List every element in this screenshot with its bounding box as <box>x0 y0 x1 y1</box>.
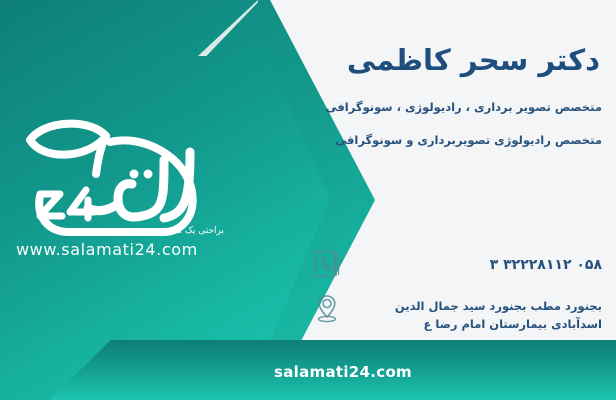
address-row[interactable]: بجنورد مطب بجنورد سید جمال الدین اسدآباد… <box>312 292 602 334</box>
map-pin-icon <box>312 292 342 324</box>
business-card: براحتی یک لبخند www.salamati24.com دکتر … <box>0 0 616 400</box>
brand-url: www.salamati24.com <box>16 240 198 259</box>
brand-logo: براحتی یک لبخند www.salamati24.com <box>14 112 234 272</box>
specialty-line-1: متخصص تصویر برداری ، رادیولوژی ، سونوگرا… <box>314 99 602 116</box>
footer-bar: salamati24.com <box>0 340 616 400</box>
footer-site[interactable]: salamati24.com <box>0 363 616 381</box>
specialty-line-2: متخصص رادیولوژی تصویربرداری و سونوگرافی <box>314 131 602 151</box>
doctor-name: دکتر سحر کاظمی <box>320 42 600 78</box>
apple-leaf-icon <box>14 112 234 238</box>
phonebook-icon <box>312 248 342 280</box>
brand-tagline: براحتی یک لبخند <box>163 226 224 236</box>
phone-number[interactable]: ۰۵۸ ۳۲۲۲۸۱۱۲ ۳ <box>352 248 602 277</box>
phone-row[interactable]: ۰۵۸ ۳۲۲۲۸۱۱۲ ۳ <box>312 248 602 280</box>
address-text[interactable]: بجنورد مطب بجنورد سید جمال الدین اسدآباد… <box>352 292 602 334</box>
